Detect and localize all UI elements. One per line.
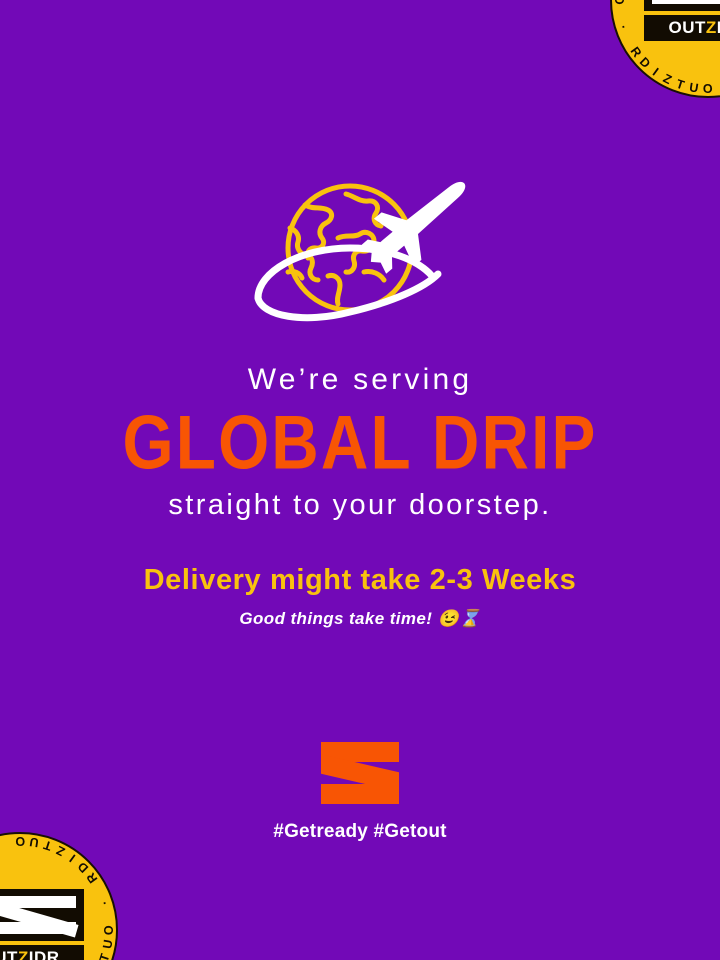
brand-badge-bottom-left: OUTZIDR · OUTZIDR · OUTZIDR · OUTZIDR · … [0,832,118,960]
badge-rim-glyph: T [41,837,53,853]
badge-rim-glyph: · [97,898,112,907]
hashtags-text: #Getready #Getout [0,821,720,843]
subtitle-text: straight to your doorstep. [0,489,720,522]
badge-rim-glyph: O [15,834,25,848]
badge-rim-glyph: U [688,80,700,95]
flight-trail-swoosh-lower [258,274,438,318]
badge-wordmark-mark-bl: Z [18,948,29,960]
badge-rim-glyph: U [100,938,115,950]
badge-rim-glyph: O [703,82,713,96]
badge-z-mark-top-right [644,0,720,11]
badge-rim-glyph: O [612,0,626,5]
badge-core-bottom-left: OUTZIDR [0,889,84,960]
badge-wordmark-before-tr: OUT [668,18,705,38]
badge-rim-glyph: · [616,23,631,32]
badge-wordmark-before-bl: OUT [0,948,18,960]
badge-wordmark-mark-tr: Z [706,18,717,38]
z-logo-bottom-bar [321,784,399,804]
badge-rim-glyph: Z [54,843,68,859]
badge-rim-glyph: D [75,859,92,876]
badge-rim-glyph: T [97,951,113,960]
badge-wordmark-bottom-left: OUTZIDR [0,945,84,960]
poster-canvas: OUTZIDR · OUTZIDR · OUTZIDR · OUTZIDR · … [0,0,720,960]
badge-rim-glyph: U [28,834,40,849]
delivery-reassurance: Good things take time! 😉⌛ [0,609,720,629]
delivery-notice: Delivery might take 2-3 Weeks [0,564,720,597]
badge-core-top-right: OUTZIDR [644,0,720,41]
badge-rim-glyph: I [650,65,661,79]
badge-rim-glyph: Z [661,71,675,87]
badge-rim-glyph: D [637,55,654,72]
badge-rim-glyph: T [674,77,686,93]
badge-rim-glyph: R [628,44,645,60]
hero-illustration [0,176,720,342]
brand-badge-top-right: OUTZIDR · OUTZIDR · OUTZIDR · OUTZIDR · … [610,0,720,98]
badge-wordmark-top-right: OUTZIDR [644,15,720,41]
badge-wordmark-after-bl: IDR [29,948,60,960]
badge-z-mark-bottom-left [0,889,84,941]
page-title: GLOBAL DRIP [0,404,720,483]
badge-z-diagonal-top-right [649,0,720,8]
brand-z-logo [321,742,399,804]
badge-z-diagonal-bottom-left [0,892,79,937]
copy-block: We’re serving GLOBAL DRIP straight to yo… [0,362,720,629]
badge-rim-glyph: R [84,870,101,886]
eyebrow-text: We’re serving [0,362,720,398]
globe-plane-graphic [242,176,478,342]
footer-block: #Getready #Getout [0,742,720,843]
badge-rim-glyph: O [102,925,116,935]
badge-rim-glyph: I [67,851,78,865]
